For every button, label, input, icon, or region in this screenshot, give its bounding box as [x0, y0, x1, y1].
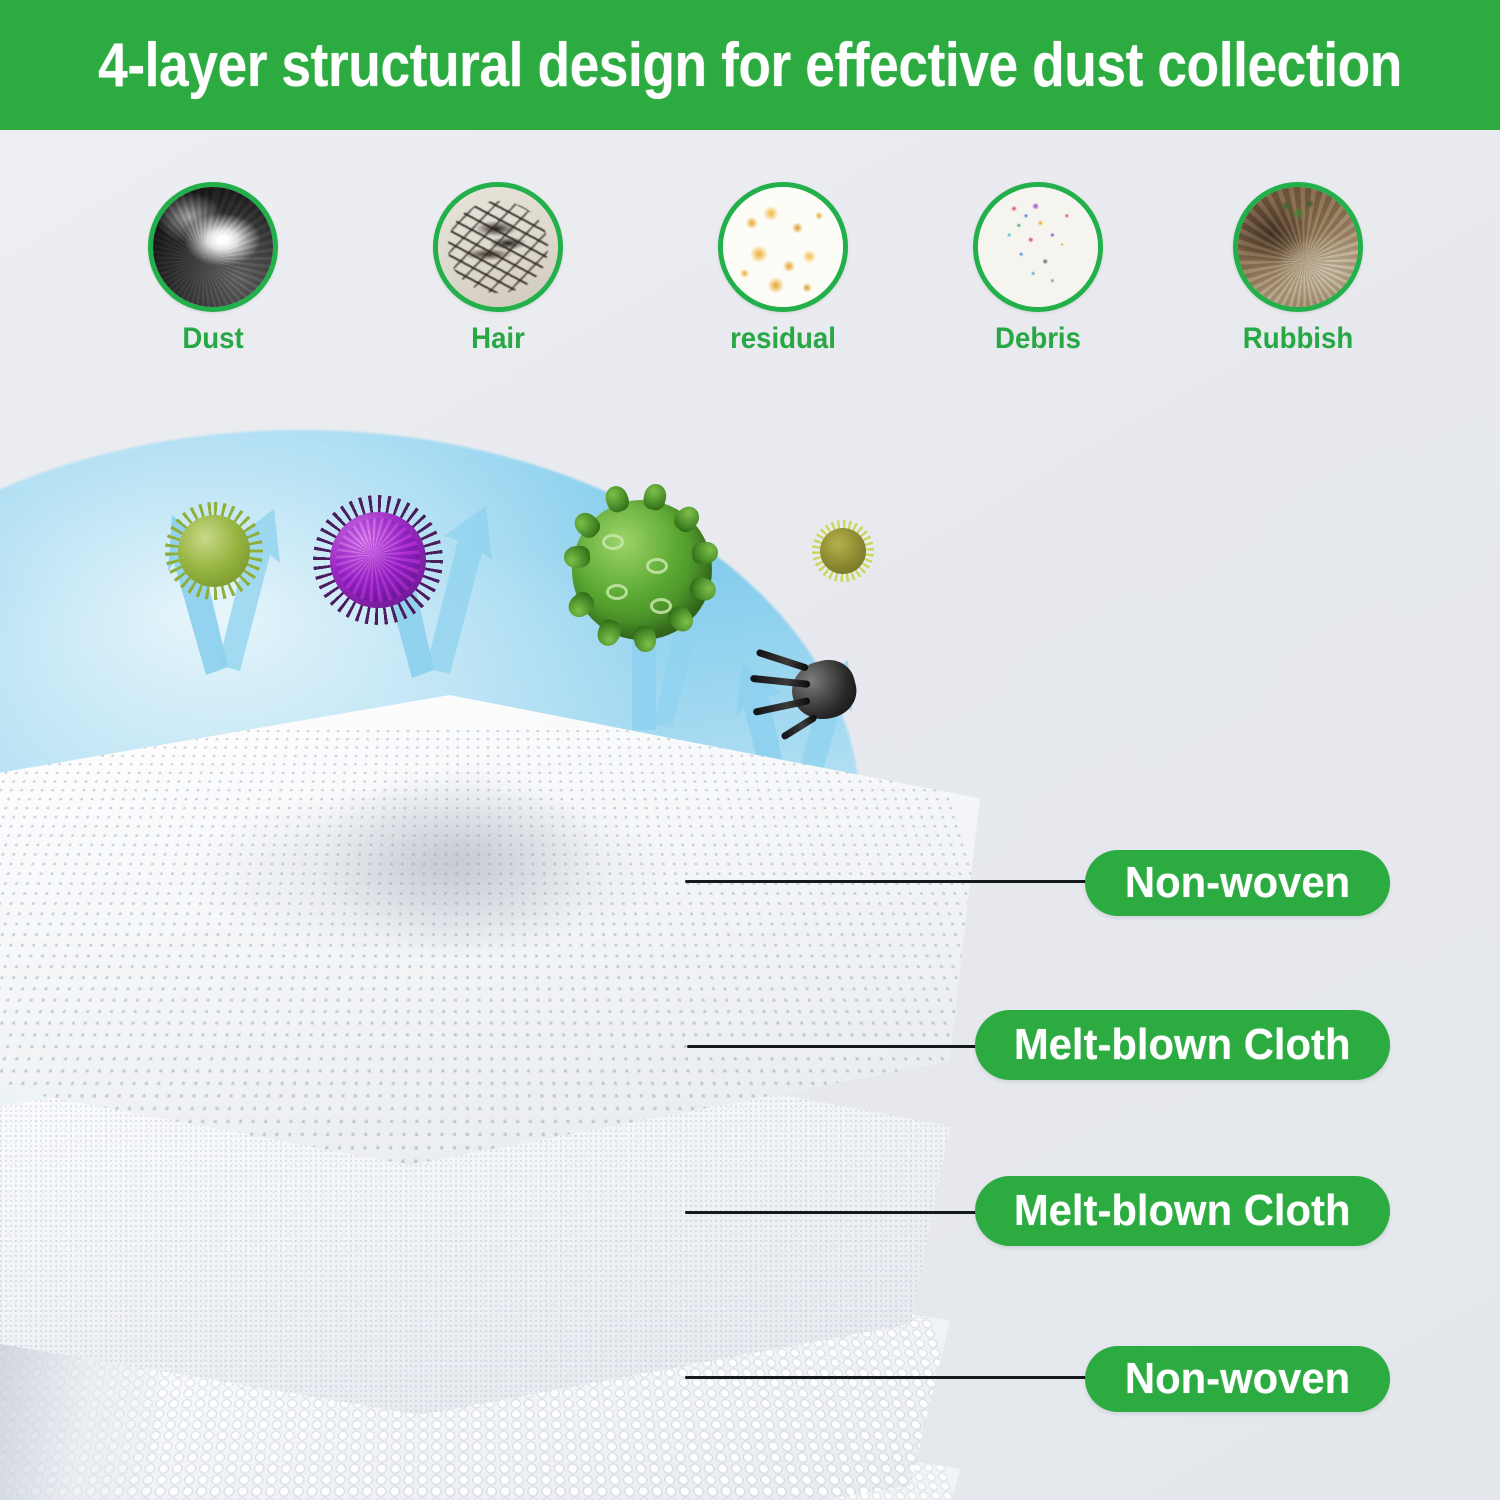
callout-leader-line-1 [685, 880, 1089, 883]
callout-pill-melt-blown-lower[interactable]: Melt-blown Cloth [975, 1176, 1390, 1246]
callout-pill-melt-blown-upper[interactable]: Melt-blown Cloth [975, 1010, 1390, 1080]
residual-photo-icon [718, 182, 848, 312]
debris-photo-icon [973, 182, 1103, 312]
contaminant-item-hair[interactable]: Hair [428, 182, 568, 356]
callout-leader-line-4 [685, 1376, 1089, 1379]
contaminant-item-rubbish[interactable]: Rubbish [1228, 182, 1368, 356]
header-banner: 4-layer structural design for effective … [0, 0, 1500, 130]
olive-spiky-germ-icon [178, 515, 250, 587]
contaminant-label: Rubbish [1234, 322, 1363, 356]
callout-pill-non-woven-top[interactable]: Non-woven [1085, 850, 1390, 916]
dust-photo-icon [148, 182, 278, 312]
callout-label: Melt-blown Cloth [1014, 1020, 1351, 1070]
contaminant-item-debris[interactable]: Debris [968, 182, 1108, 356]
page-title: 4-layer structural design for effective … [98, 30, 1402, 101]
contaminant-label: Dust [149, 322, 278, 356]
callout-leader-line-2 [687, 1045, 979, 1048]
infographic-stage: Dust Hair residual Debris Rubbish Non-wo… [0, 130, 1500, 1500]
callout-leader-line-3 [685, 1211, 979, 1214]
contaminant-label: Hair [434, 322, 563, 356]
contaminant-item-dust[interactable]: Dust [143, 182, 283, 356]
dust-mite-icon [750, 645, 860, 735]
small-yellow-germ-icon [820, 528, 866, 574]
purple-spiky-germ-icon [330, 512, 426, 608]
callout-label: Non-woven [1125, 1354, 1350, 1404]
contaminant-label: Debris [974, 322, 1103, 356]
callout-label: Melt-blown Cloth [1014, 1186, 1351, 1236]
callout-pill-non-woven-bottom[interactable]: Non-woven [1085, 1346, 1390, 1412]
contaminant-item-residual[interactable]: residual [713, 182, 853, 356]
green-coronavirus-icon [572, 500, 712, 640]
hair-photo-icon [433, 182, 563, 312]
contaminant-label: residual [719, 322, 848, 356]
callout-label: Non-woven [1125, 858, 1350, 908]
rubbish-photo-icon [1233, 182, 1363, 312]
